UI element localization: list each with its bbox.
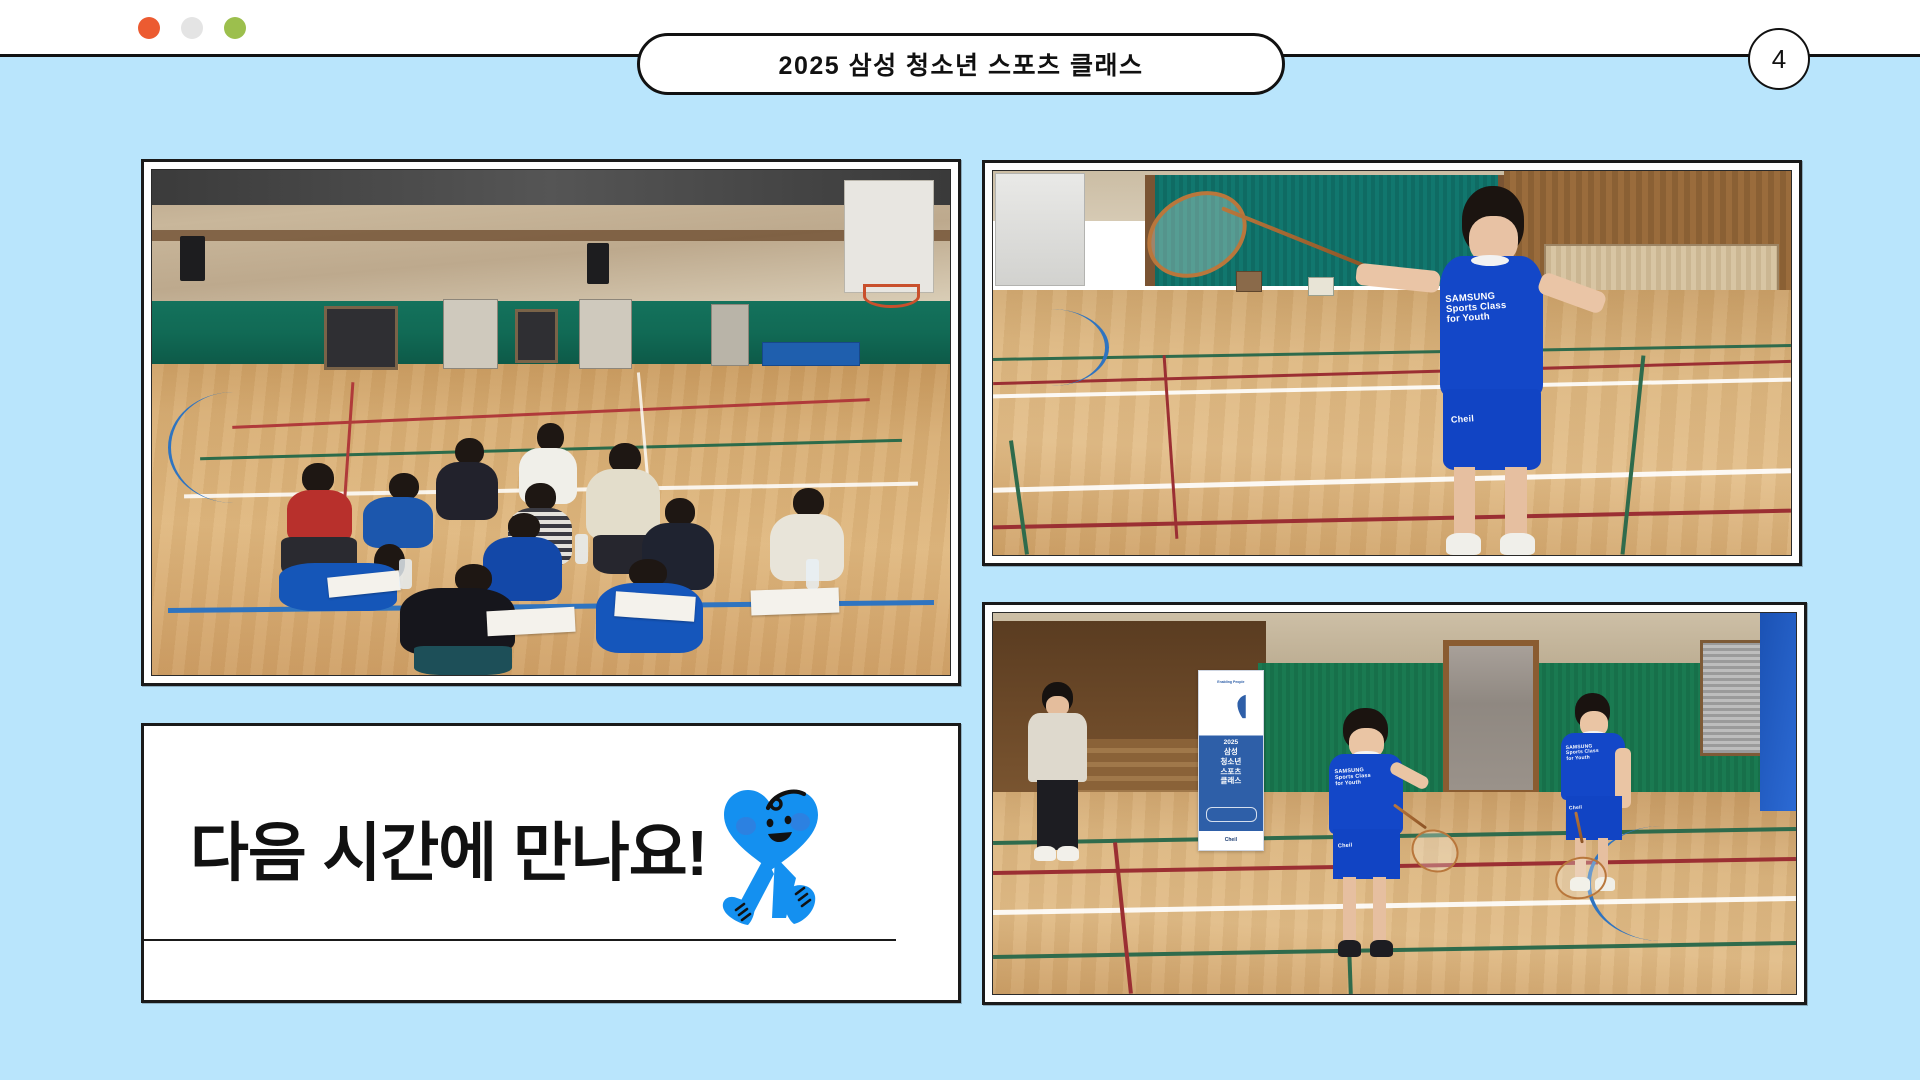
closing-message-text: 다음 시간에 만나요! bbox=[190, 802, 707, 894]
banner-line-1: 삼성 bbox=[1199, 747, 1263, 757]
court-line-blue-arc bbox=[993, 309, 1109, 386]
banner-line-2: 청소년 bbox=[1199, 757, 1263, 767]
shorts-brand-text: Cheil bbox=[1338, 844, 1353, 851]
gym-door bbox=[1443, 640, 1539, 796]
banner-title-text: 2025 삼성 청소년 스포츠 클래스 bbox=[1199, 739, 1263, 786]
event-rollup-banner: Enabling People 2025 삼성 청소년 스포츠 클래스 Chei… bbox=[1198, 670, 1264, 851]
badminton-pair-photo: Enabling People 2025 삼성 청소년 스포츠 클래스 Chei… bbox=[982, 602, 1807, 1005]
wall-sign bbox=[1308, 277, 1334, 296]
banner-line-4: 클래스 bbox=[1199, 776, 1263, 786]
speaker-icon bbox=[180, 236, 206, 281]
player-leg-left bbox=[1454, 467, 1476, 541]
banner-sponsor-row: Cheil bbox=[1199, 831, 1263, 851]
worksheet bbox=[750, 588, 839, 616]
page-title: 2025 삼성 청소년 스포츠 클래스 bbox=[779, 46, 1144, 82]
student-badminton-left: SAMSUNG Sports Class for Youth Cheil bbox=[1322, 708, 1410, 959]
player-shorts bbox=[1443, 389, 1541, 470]
banner-mascot-icon bbox=[1216, 694, 1246, 730]
photo-image-badminton-pair: Enabling People 2025 삼성 청소년 스포츠 클래스 Chei… bbox=[992, 612, 1797, 995]
refrigerator bbox=[995, 173, 1085, 286]
gym-window bbox=[324, 306, 399, 370]
minimize-icon[interactable] bbox=[181, 17, 203, 39]
banner-logo-text: Enabling People bbox=[1217, 680, 1244, 684]
gym-door bbox=[443, 299, 498, 369]
player-shoe bbox=[1446, 533, 1481, 555]
closing-message-card: 다음 시간에 만나요! bbox=[141, 723, 961, 1003]
page-number-badge: 4 bbox=[1748, 28, 1810, 90]
blue-curtain bbox=[1760, 613, 1796, 811]
basketball-hoop-icon bbox=[844, 180, 934, 293]
jersey-brand-text: SAMSUNG Sports Class for Youth bbox=[1565, 743, 1599, 761]
photo-image-badminton-solo: SAMSUNG Sports Class for Youth Cheil bbox=[992, 170, 1792, 556]
page-number: 4 bbox=[1772, 44, 1786, 75]
water-bottle bbox=[806, 559, 819, 589]
teacher-standing bbox=[1025, 682, 1089, 865]
gym-equipment-cabinet bbox=[711, 304, 749, 367]
player-collar bbox=[1471, 255, 1509, 266]
speaker-icon bbox=[587, 243, 609, 283]
wall-frame bbox=[1236, 271, 1262, 292]
shorts-brand-text: Cheil bbox=[1451, 414, 1475, 425]
jersey-brand-text: SAMSUNG Sports Class for Youth bbox=[1445, 291, 1507, 325]
banner-subtitle-tag bbox=[1206, 807, 1257, 822]
gym-floor bbox=[993, 290, 1791, 555]
window-controls[interactable] bbox=[138, 17, 246, 39]
player-leg-right bbox=[1505, 467, 1527, 541]
banner-line-3: 스포츠 bbox=[1199, 767, 1263, 777]
blue-mat-stack bbox=[762, 342, 860, 367]
slide-title-pill: 2025 삼성 청소년 스포츠 클래스 bbox=[637, 33, 1285, 95]
worksheet bbox=[487, 607, 576, 637]
player-shoe bbox=[1500, 533, 1535, 555]
gym-ceiling-strip bbox=[152, 170, 950, 205]
maximize-icon[interactable] bbox=[224, 17, 246, 39]
card-divider-line bbox=[144, 939, 896, 941]
player-jersey bbox=[1440, 256, 1543, 396]
students-seated-worksheet-photo bbox=[141, 159, 961, 686]
badminton-solo-photo: SAMSUNG Sports Class for Youth Cheil bbox=[982, 160, 1802, 566]
water-bottle bbox=[575, 534, 588, 564]
banner-sponsor-text: Cheil bbox=[1225, 837, 1237, 843]
water-bottle bbox=[399, 559, 412, 589]
student-badminton-player: SAMSUNG Sports Class for Youth Cheil bbox=[1424, 186, 1560, 555]
close-icon[interactable] bbox=[138, 17, 160, 39]
gym-door bbox=[579, 299, 632, 369]
gym-window bbox=[515, 309, 558, 363]
photo-image-classroom bbox=[151, 169, 951, 676]
jersey-brand-text: SAMSUNG Sports Class for Youth bbox=[1334, 767, 1371, 787]
blue-heart-mascot bbox=[718, 782, 824, 930]
